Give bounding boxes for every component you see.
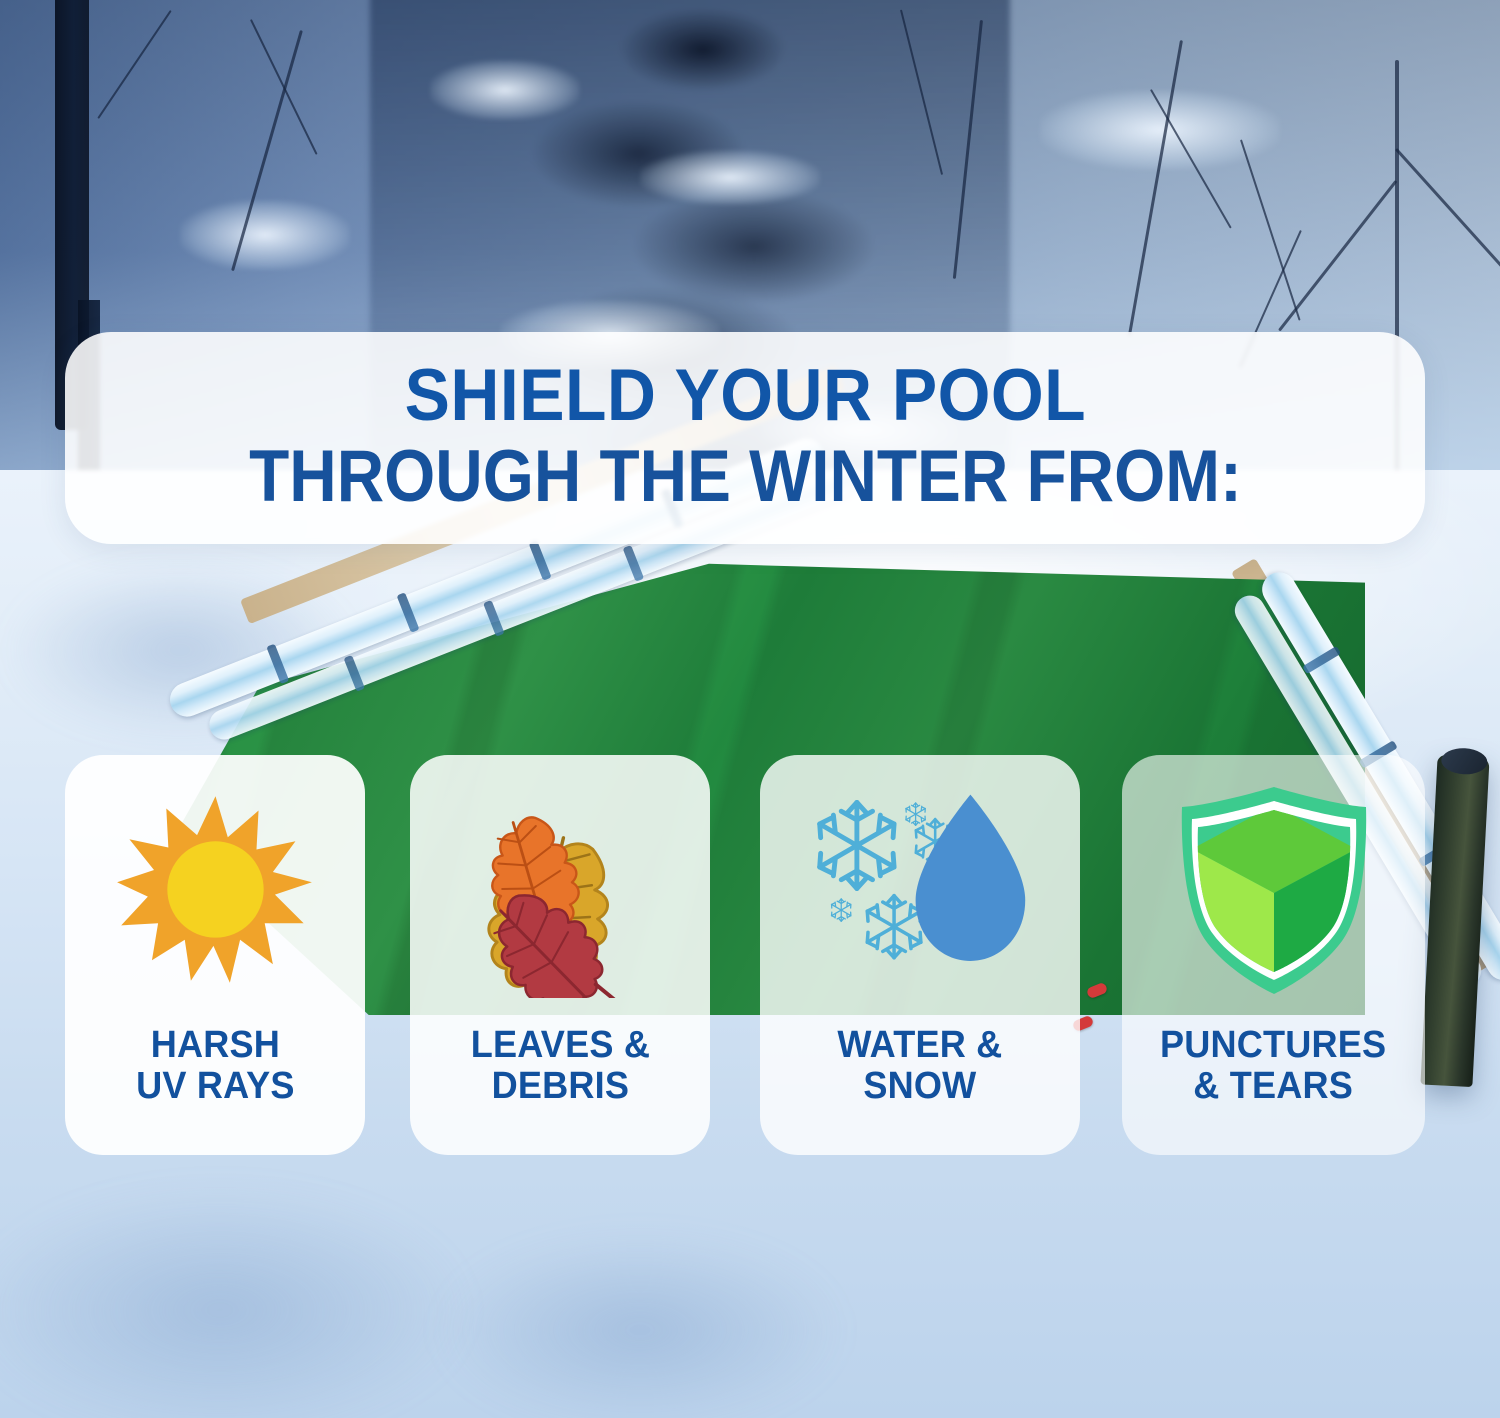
card-label-punctures-tears: PUNCTURES & TEARS <box>1160 1025 1386 1107</box>
card-label-harsh-uv-rays: HARSH UV RAYS <box>136 1025 295 1107</box>
sun-icon <box>113 788 318 993</box>
card-label-leaves-debris: LEAVES & DEBRIS <box>470 1025 649 1107</box>
card-label-line1: WATER & <box>837 1024 1002 1066</box>
snow-shadow <box>0 1180 480 1418</box>
snow-clump <box>640 150 820 205</box>
water-snow-icon <box>798 775 1043 1005</box>
background-photo <box>0 0 1500 1418</box>
snow-clump <box>180 200 350 270</box>
card-label-line2: SNOW <box>863 1065 976 1107</box>
leaves-icon <box>453 783 668 998</box>
card-label-line2: & TEARS <box>1194 1065 1354 1107</box>
card-label-line1: HARSH <box>150 1024 279 1066</box>
feature-card-leaves-debris[interactable]: LEAVES & DEBRIS <box>410 755 710 1155</box>
feature-card-punctures-tears[interactable]: PUNCTURES & TEARS <box>1122 755 1425 1155</box>
icon-container <box>65 755 365 1025</box>
feature-card-harsh-uv-rays[interactable]: HARSH UV RAYS <box>65 755 365 1155</box>
feature-card-row: HARSH UV RAYS <box>0 755 1500 1155</box>
card-label-water-snow: WATER & SNOW <box>837 1025 1002 1107</box>
card-label-line1: LEAVES & <box>470 1024 649 1066</box>
icon-container <box>1122 755 1425 1025</box>
snow-clump <box>430 60 580 120</box>
headline-line-2: THROUGH THE WINTER FROM: <box>249 438 1242 517</box>
card-label-line1: PUNCTURES <box>1160 1024 1386 1066</box>
feature-card-water-snow[interactable]: WATER & SNOW <box>760 755 1080 1155</box>
icon-container <box>410 755 710 1025</box>
headline-banner: SHIELD YOUR POOL THROUGH THE WINTER FROM… <box>65 332 1425 544</box>
icon-container <box>760 755 1080 1025</box>
snow-shadow <box>430 1230 850 1418</box>
card-label-line2: DEBRIS <box>491 1065 629 1107</box>
shield-icon <box>1174 783 1374 998</box>
headline-line-1: SHIELD YOUR POOL <box>404 359 1085 433</box>
card-label-line2: UV RAYS <box>136 1065 295 1107</box>
